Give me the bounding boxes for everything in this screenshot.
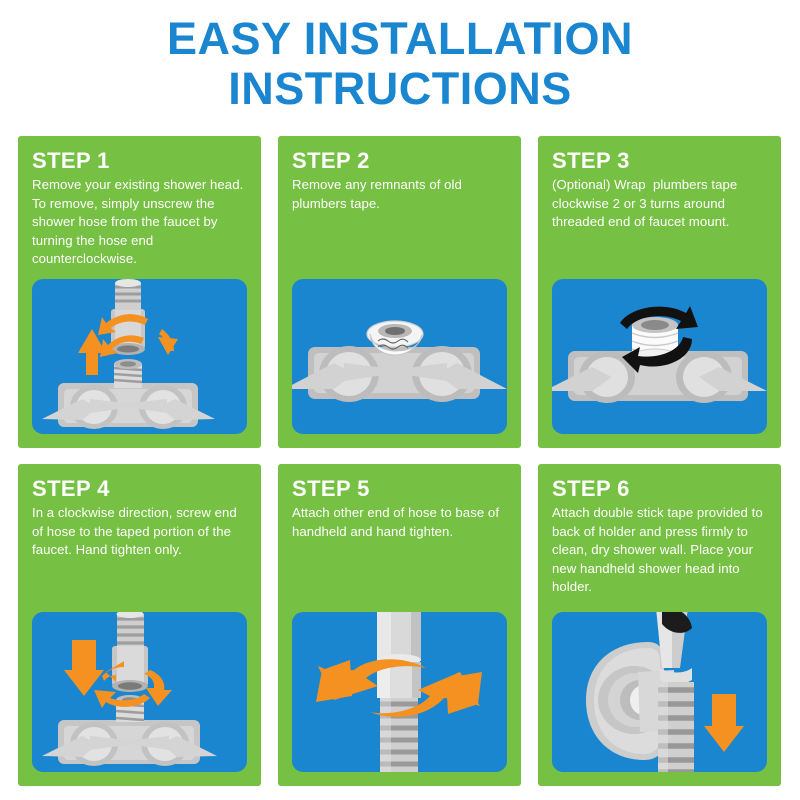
- step-card-2: STEP 2 Remove any remnants of old plumbe…: [278, 136, 521, 448]
- step-1-body: Remove your existing shower head. To rem…: [32, 176, 247, 269]
- step-6-title: STEP 6: [552, 477, 767, 501]
- infographic-page: EASY INSTALLATION INSTRUCTIONS STEP 1 Re…: [0, 0, 800, 800]
- title-line-1: EASY INSTALLATION: [0, 14, 800, 64]
- faucet-mount-with-old-tape-remnants-illustration: [292, 279, 507, 434]
- title-line-2: INSTRUCTIONS: [0, 64, 800, 114]
- step-2-body: Remove any remnants of old plumbers tape…: [292, 176, 507, 213]
- step-card-6: STEP 6 Attach double stick tape provided…: [538, 464, 781, 786]
- step-2-title: STEP 2: [292, 149, 507, 173]
- step-6-body: Attach double stick tape provided to bac…: [552, 504, 767, 597]
- step-card-5: STEP 5 Attach other end of hose to base …: [278, 464, 521, 786]
- page-title: EASY INSTALLATION INSTRUCTIONS: [0, 14, 800, 114]
- step-1-illustration-wrap: [32, 279, 247, 448]
- step-5-illustration-wrap: [292, 612, 507, 786]
- step-card-1: STEP 1 Remove your existing shower head.…: [18, 136, 261, 448]
- step-3-title: STEP 3: [552, 149, 767, 173]
- step-3-body: (Optional) Wrap plumbers tape clockwise …: [552, 176, 767, 232]
- step-2-illustration-wrap: [292, 279, 507, 448]
- step-6-illustration-wrap: [552, 612, 767, 786]
- vertical-hose-with-rotation-arrows-illustration: [292, 612, 507, 772]
- step-card-3: STEP 3 (Optional) Wrap plumbers tape clo…: [538, 136, 781, 448]
- step-5-body: Attach other end of hose to base of hand…: [292, 504, 507, 541]
- step-3-illustration-wrap: [552, 279, 767, 448]
- step-4-illustration-wrap: [32, 612, 247, 786]
- step-1-title: STEP 1: [32, 149, 247, 173]
- step-card-4: STEP 4 In a clockwise direction, screw e…: [18, 464, 261, 786]
- step-4-body: In a clockwise direction, screw end of h…: [32, 504, 247, 560]
- step-5-title: STEP 5: [292, 477, 507, 501]
- hose-screwing-down-onto-faucet-mount-illustration: [32, 612, 247, 772]
- hose-lifting-off-faucet-mount-illustration: [32, 279, 247, 434]
- handheld-shower-head-into-wall-holder-illustration: [552, 612, 767, 772]
- step-4-title: STEP 4: [32, 477, 247, 501]
- plumbers-tape-wrapped-on-threaded-stub-illustration: [552, 279, 767, 434]
- steps-grid: STEP 1 Remove your existing shower head.…: [18, 136, 782, 786]
